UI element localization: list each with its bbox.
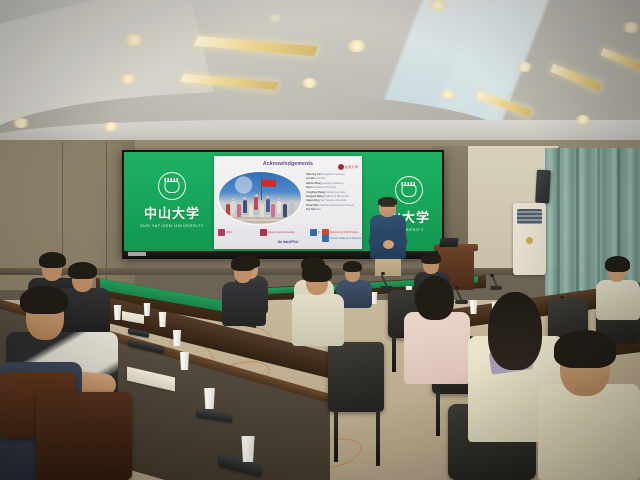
- screen-osd-indicator: [128, 252, 146, 256]
- downlight-icon: [124, 34, 144, 46]
- chair[interactable]: [328, 342, 384, 412]
- downlight-icon: [622, 22, 640, 33]
- audience-member: [222, 256, 266, 326]
- audience-member: [292, 264, 344, 346]
- microphone-head-icon: [490, 274, 494, 277]
- downlight-icon: [575, 115, 591, 124]
- sysu-logo-chinese: 中山大学: [133, 203, 211, 222]
- logo-mark-icon: [310, 229, 317, 236]
- pku-seal-icon: [338, 164, 344, 170]
- sysu-logo-left: 中山大学 SUN YAT-SEN UNIVERSITY: [133, 172, 211, 228]
- chair[interactable]: [36, 392, 132, 480]
- person-hair: [343, 261, 362, 272]
- downlight-icon: [103, 122, 119, 131]
- ac-vent-icon: [517, 209, 542, 224]
- conference-room-photo: 中山大学 SUN YAT-SEN UNIVERSITY 山大学 UNIVERSI…: [0, 0, 640, 480]
- presenter-trousers: [375, 256, 401, 276]
- person-torso: [222, 282, 266, 326]
- slide-corner-logo-text: 北京大学: [345, 165, 358, 169]
- slide-footer-logos: NSFC Peking University Funding R Nationa…: [218, 226, 358, 237]
- footer-logo: R: [310, 228, 320, 237]
- footer-logo-label: Peking University Funding: [268, 232, 295, 234]
- person-hair: [20, 286, 68, 314]
- footer-logo: NSFC: [218, 228, 232, 237]
- slide-credit-list: Sheming Sun Tsinghua University Jun Wu a…: [306, 173, 360, 213]
- person-torso: [404, 312, 470, 384]
- chair-leg: [376, 410, 380, 466]
- ceiling: [0, 0, 640, 152]
- presenter-glasses-icon: [381, 206, 395, 211]
- person-hair: [605, 256, 630, 272]
- person-hair: [554, 330, 616, 368]
- person-hair: [421, 252, 441, 264]
- slide-group-photo: [219, 172, 301, 224]
- university-seal-icon: [158, 172, 186, 200]
- downlight-icon: [119, 74, 137, 84]
- chair-leg: [436, 392, 440, 436]
- logo-mark-icon: [260, 229, 267, 236]
- presenter-speaker: [368, 198, 408, 276]
- audience-member: [404, 278, 470, 384]
- wall-speaker-icon: [535, 170, 551, 204]
- sysu-logo-english: SUN YAT-SEN UNIVERSITY: [133, 223, 211, 228]
- person-torso: [538, 384, 640, 480]
- lectern-laptop[interactable]: [439, 238, 459, 247]
- footer-logo: Peking University Funding: [260, 228, 295, 237]
- person-hair: [231, 256, 255, 271]
- person-hair: [302, 263, 332, 282]
- air-conditioner-unit: [513, 203, 546, 275]
- slide-corner-logo: 北京大学: [338, 164, 358, 170]
- downlight-icon: [347, 40, 367, 52]
- downlight-icon: [301, 78, 318, 88]
- strip-light-icon: [194, 36, 318, 56]
- person-hair: [68, 262, 97, 279]
- downlight-icon: [440, 90, 456, 99]
- photo-red-flag-icon: [262, 179, 276, 187]
- downlight-icon: [516, 62, 533, 72]
- list-item: Tao Tian BGI: [306, 208, 360, 212]
- audience-member: [596, 258, 640, 320]
- presenter-hands: [383, 240, 394, 249]
- slide-caption: Du lab@PKU: [214, 240, 362, 244]
- microphone-head-icon: [381, 272, 385, 275]
- downlight-icon: [428, 0, 448, 11]
- person-torso: [596, 280, 640, 320]
- presentation-slide[interactable]: Acknowledgements 北京大学 Sheming Sun Tsingh…: [214, 156, 362, 249]
- logo-mark-icon: [218, 229, 225, 236]
- person-hair: [488, 292, 542, 370]
- footer-logo-label: R: [318, 232, 320, 234]
- downlight-icon: [268, 14, 282, 22]
- chair-leg: [334, 410, 338, 462]
- audience-member: [538, 330, 640, 480]
- person-hair: [416, 276, 454, 320]
- chair-leg: [392, 336, 396, 372]
- footer-logo-label: NSFC: [226, 232, 232, 234]
- ac-badge-icon: [526, 237, 533, 244]
- person-torso: [292, 294, 344, 346]
- downlight-icon: [12, 118, 30, 128]
